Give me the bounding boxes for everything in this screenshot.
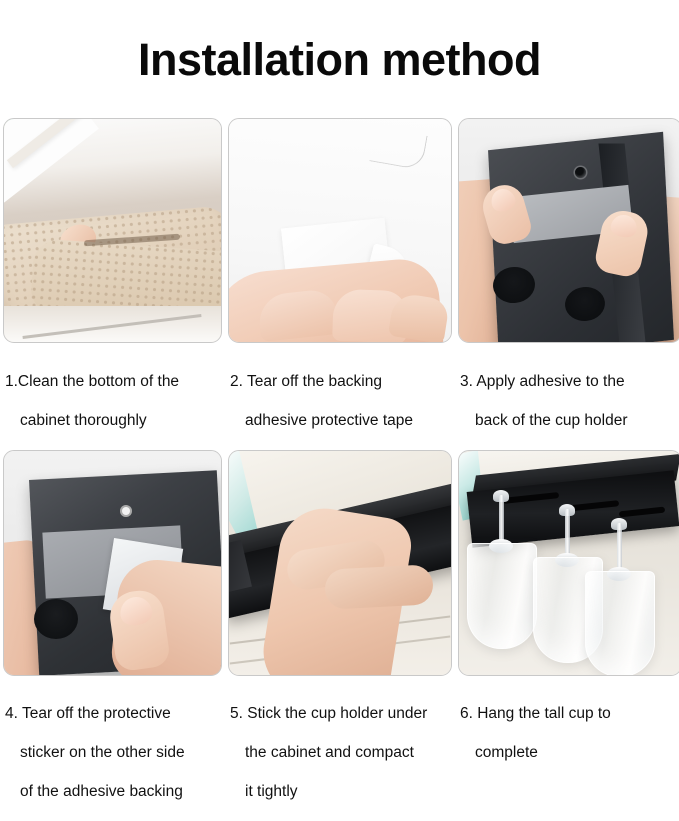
- step-caption-4: 4. Tear off the protective sticker on th…: [3, 676, 222, 821]
- installation-instructions-page: Installation method 1.Clean the bottom o…: [0, 30, 679, 692]
- step-card-2: 2. Tear off the backing adhesive protect…: [228, 118, 452, 450]
- step-caption-3: 3. Apply adhesive to the back of the cup…: [458, 343, 679, 450]
- step-image-2: [228, 118, 452, 343]
- caption-line: back of the cup holder: [460, 411, 679, 431]
- step-image-6: [458, 450, 679, 676]
- steps-row-bottom: 4. Tear off the protective sticker on th…: [0, 450, 679, 821]
- caption-line: cabinet thoroughly: [5, 411, 220, 431]
- caption-line: 5. Stick the cup holder under: [230, 704, 450, 724]
- finger: [324, 564, 434, 610]
- caption-line: sticker on the other side: [5, 743, 220, 763]
- step-card-6: 6. Hang the tall cup to complete: [458, 450, 679, 821]
- step-caption-6: 6. Hang the tall cup to complete: [458, 676, 679, 783]
- plate-cutout: [34, 599, 78, 639]
- step-caption-5: 5. Stick the cup holder under the cabine…: [228, 676, 452, 821]
- caption-line: 3. Apply adhesive to the: [460, 372, 679, 392]
- screw-hole: [120, 505, 132, 517]
- steps-row-top: 1.Clean the bottom of the cabinet thorou…: [0, 118, 679, 450]
- caption-line: complete: [460, 743, 679, 763]
- step-image-5: [228, 450, 452, 676]
- step-card-4: 4. Tear off the protective sticker on th…: [3, 450, 222, 821]
- caption-line: the cabinet and compact: [230, 743, 450, 763]
- step-caption-1: 1.Clean the bottom of the cabinet thorou…: [3, 343, 222, 450]
- glass-bowl: [585, 571, 655, 676]
- caption-line: of the adhesive backing: [5, 782, 220, 802]
- glass-bowl: [467, 543, 537, 649]
- caption-line: 6. Hang the tall cup to: [460, 704, 679, 724]
- step-card-3: 3. Apply adhesive to the back of the cup…: [458, 118, 679, 450]
- step-caption-2: 2. Tear off the backing adhesive protect…: [228, 343, 452, 450]
- caption-line: 1.Clean the bottom of the: [5, 372, 220, 392]
- step-card-5: 5. Stick the cup holder under the cabine…: [228, 450, 452, 821]
- page-title: Installation method: [0, 30, 679, 88]
- caption-line: 4. Tear off the protective: [5, 704, 220, 724]
- caption-line: adhesive protective tape: [230, 411, 450, 431]
- step-image-3: [458, 118, 679, 343]
- step-image-4: [3, 450, 222, 676]
- step-image-1: [3, 118, 222, 343]
- caption-line: it tightly: [230, 782, 450, 802]
- caption-line: 2. Tear off the backing: [230, 372, 450, 392]
- step-card-1: 1.Clean the bottom of the cabinet thorou…: [3, 118, 222, 450]
